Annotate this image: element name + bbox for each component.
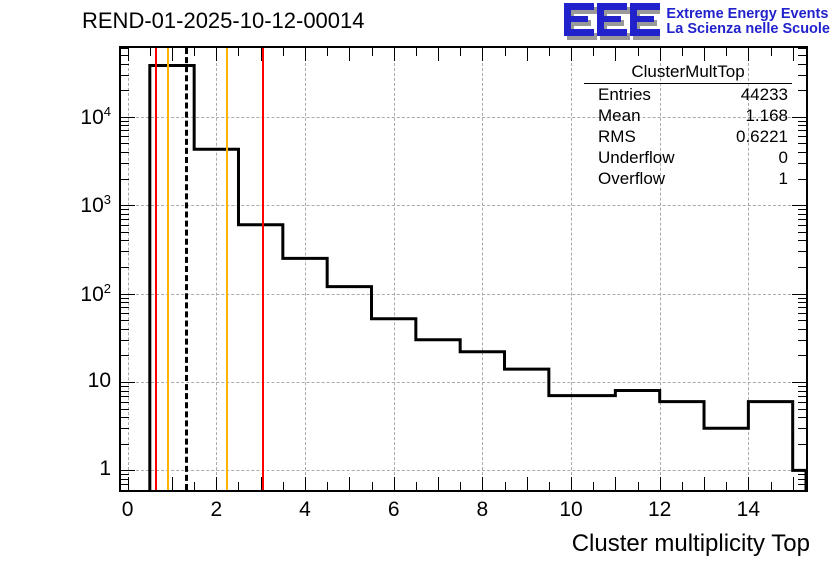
y-axis-tick: [798, 225, 806, 226]
y-axis-tick: [121, 355, 129, 356]
x-axis-tick: [216, 48, 217, 61]
y-axis-tick: [121, 313, 129, 314]
y-axis-tick: [121, 302, 129, 303]
y-axis-tick: [798, 179, 806, 180]
x-axis-tick: [172, 48, 173, 61]
y-axis-tick: [792, 294, 806, 295]
y-axis-tick: [798, 232, 806, 233]
x-axis-tick: [394, 48, 395, 61]
y-axis-tick-label: 1: [99, 457, 111, 481]
x-axis-tick: [615, 48, 616, 61]
y-axis-tick: [121, 428, 129, 429]
y-axis-tick: [121, 152, 129, 153]
y-axis-tick: [121, 320, 129, 321]
stats-key: Overflow: [584, 169, 665, 189]
x-axis-tick: [726, 482, 727, 490]
y-axis-tick: [121, 179, 129, 180]
y-axis-tick: [792, 205, 806, 206]
y-axis-tick: [798, 219, 806, 220]
y-axis-tick: [121, 232, 129, 233]
x-axis-tick: [438, 48, 439, 61]
x-axis-tick-label: 4: [299, 498, 311, 522]
y-axis-tick: [121, 307, 129, 308]
eee-logo-glyph-icon: [564, 3, 660, 41]
x-axis-tick: [704, 477, 705, 490]
y-axis-tick: [121, 382, 135, 383]
y-axis-tick: [121, 64, 129, 65]
y-axis-tick: [121, 329, 129, 330]
x-axis-tick: [571, 48, 572, 61]
y-axis-tick: [121, 130, 129, 131]
x-axis-tick: [660, 477, 661, 490]
y-axis-tick: [798, 340, 806, 341]
y-axis-tick: [121, 402, 129, 403]
x-axis-tick: [372, 482, 373, 490]
x-axis-tick: [372, 48, 373, 56]
y-axis-tick: [798, 391, 806, 392]
marker-line-red-high: [262, 48, 264, 490]
x-axis-tick: [438, 477, 439, 490]
marker-line-black-mean: [185, 48, 188, 490]
y-axis-tick: [798, 417, 806, 418]
eee-logo-text: Extreme Energy Events La Scienza nelle S…: [666, 7, 830, 37]
stats-row: RMS0.6221: [584, 126, 792, 147]
x-axis-tick: [527, 48, 528, 61]
y-axis-tick: [121, 136, 129, 137]
stats-key: Underflow: [584, 148, 675, 168]
y-axis-tick: [798, 484, 806, 485]
stats-key: Entries: [584, 85, 651, 105]
eee-logo-line1: Extreme Energy Events: [666, 7, 830, 22]
y-axis-tick: [121, 125, 129, 126]
y-axis-tick: [121, 417, 129, 418]
x-axis-tick: [793, 477, 794, 490]
y-axis-tick: [121, 163, 129, 164]
y-axis-tick: [121, 121, 129, 122]
y-axis-tick: [798, 55, 806, 56]
y-axis-tick: [121, 214, 129, 215]
y-axis-tick: [121, 444, 129, 445]
y-axis-tick: [121, 294, 135, 295]
x-axis-tick-label: 10: [559, 498, 582, 522]
y-axis-tick-label: 10: [88, 369, 111, 393]
root-canvas: REND-01-2025-10-12-00014 Extreme Energy …: [0, 0, 836, 572]
y-axis-tick: [121, 386, 129, 387]
stats-value: 44233: [741, 85, 792, 105]
y-axis-tick: [121, 75, 129, 76]
x-axis-tick: [238, 482, 239, 490]
x-axis-tick: [416, 482, 417, 490]
x-axis-tick: [527, 477, 528, 490]
y-axis-tick: [121, 219, 129, 220]
x-axis-tick: [150, 482, 151, 490]
y-axis-tick: [121, 55, 129, 56]
y-axis-tick: [798, 474, 806, 475]
x-axis-tick: [682, 48, 683, 56]
x-axis-tick: [593, 482, 594, 490]
x-axis-tick: [172, 477, 173, 490]
y-axis-tick: [121, 240, 129, 241]
x-axis-tick: [238, 48, 239, 56]
y-axis-tick: [792, 117, 806, 118]
y-axis-tick: [121, 298, 129, 299]
stats-title: ClusterMultTop: [584, 62, 792, 84]
page-title: REND-01-2025-10-12-00014: [82, 8, 365, 34]
y-axis-tick: [798, 125, 806, 126]
y-axis-tick: [798, 396, 806, 397]
x-axis-tick: [416, 48, 417, 56]
y-axis-tick: [798, 479, 806, 480]
stats-row: Entries44233: [584, 84, 792, 105]
y-axis-tick: [798, 143, 806, 144]
y-axis-tick: [798, 240, 806, 241]
x-axis-tick: [793, 48, 794, 61]
y-axis-tick: [798, 214, 806, 215]
x-axis-tick: [704, 48, 705, 61]
x-axis-tick: [460, 482, 461, 490]
stats-value: 1.168: [745, 106, 792, 126]
x-axis-tick-label: 0: [122, 498, 134, 522]
y-axis-tick: [798, 307, 806, 308]
eee-logo-line2: La Scienza nelle Scuole: [666, 22, 830, 37]
y-axis-tick-label: 102: [80, 281, 111, 307]
y-axis-tick: [798, 48, 806, 49]
marker-line-orange-low: [167, 48, 169, 490]
y-axis-tick: [121, 474, 129, 475]
y-axis-tick: [121, 391, 129, 392]
stats-row: Underflow0: [584, 147, 792, 168]
y-axis-tick: [798, 251, 806, 252]
x-axis-tick: [482, 477, 483, 490]
y-axis-tick: [121, 409, 129, 410]
x-axis-tick: [349, 477, 350, 490]
x-axis-tick: [327, 482, 328, 490]
y-axis-tick: [798, 302, 806, 303]
x-axis-tick: [726, 48, 727, 56]
y-axis-tick: [798, 152, 806, 153]
x-axis-tick-label: 12: [648, 498, 671, 522]
x-axis-tick-label: 14: [737, 498, 760, 522]
y-axis-tick: [121, 267, 129, 268]
y-axis-tick: [798, 313, 806, 314]
y-axis-tick: [121, 117, 135, 118]
x-axis-tick: [682, 482, 683, 490]
y-axis-tick: [798, 130, 806, 131]
x-axis-tick: [194, 482, 195, 490]
y-axis-tick: [121, 225, 129, 226]
y-axis-tick: [121, 90, 129, 91]
x-axis-tick-label: 8: [476, 498, 488, 522]
x-axis-tick: [505, 482, 506, 490]
y-axis-tick: [798, 402, 806, 403]
x-axis-tick: [571, 477, 572, 490]
y-axis-tick: [121, 209, 129, 210]
x-axis-tick: [216, 477, 217, 490]
x-axis-tick: [305, 477, 306, 490]
y-axis-tick: [121, 205, 135, 206]
x-axis-tick: [305, 48, 306, 61]
y-axis-tick: [798, 163, 806, 164]
x-axis-tick: [549, 48, 550, 56]
y-axis-tick: [121, 484, 129, 485]
x-axis-tick-label: 2: [210, 498, 222, 522]
stats-row: Mean1.168: [584, 105, 792, 126]
marker-line-red-low: [155, 48, 157, 490]
x-axis-tick: [261, 48, 262, 61]
x-axis-tick: [460, 48, 461, 56]
y-axis-tick: [798, 121, 806, 122]
marker-line-orange-high: [226, 48, 228, 490]
x-axis-tick: [593, 48, 594, 56]
y-axis-tick: [798, 409, 806, 410]
stats-value: 0.6221: [736, 127, 792, 147]
x-axis-tick: [748, 48, 749, 61]
x-axis-tick: [283, 482, 284, 490]
stats-value: 1: [779, 169, 792, 189]
y-axis-tick: [798, 267, 806, 268]
x-axis-tick: [194, 48, 195, 56]
y-axis-tick: [121, 396, 129, 397]
y-axis-tick: [798, 386, 806, 387]
stats-value: 0: [779, 148, 792, 168]
x-axis-tick: [261, 477, 262, 490]
stats-row: Overflow1: [584, 168, 792, 189]
y-axis-tick-label: 103: [80, 192, 111, 218]
y-axis-tick: [798, 209, 806, 210]
x-axis-tick: [748, 477, 749, 490]
x-axis-title: Cluster multiplicity Top: [572, 530, 810, 558]
x-axis-tick: [505, 48, 506, 56]
stats-key: Mean: [584, 106, 641, 126]
y-axis-tick: [121, 251, 129, 252]
x-axis-tick: [638, 48, 639, 56]
y-axis-tick: [798, 298, 806, 299]
x-axis-tick: [771, 48, 772, 56]
y-axis-tick: [798, 90, 806, 91]
y-axis-tick: [798, 64, 806, 65]
x-axis-tick: [283, 48, 284, 56]
x-axis-tick: [638, 482, 639, 490]
y-axis-tick: [121, 470, 135, 471]
y-axis-tick: [798, 75, 806, 76]
x-axis-tick-label: 6: [388, 498, 400, 522]
x-axis-tick: [482, 48, 483, 61]
eee-logo: Extreme Energy Events La Scienza nelle S…: [564, 2, 830, 42]
y-axis-tick: [792, 382, 806, 383]
y-axis-tick: [792, 470, 806, 471]
y-axis-tick: [798, 136, 806, 137]
y-axis-tick: [121, 340, 129, 341]
x-axis-tick: [771, 482, 772, 490]
eee-logo-mark: [564, 3, 660, 41]
y-axis-tick: [121, 143, 129, 144]
y-axis-tick: [798, 355, 806, 356]
y-axis-tick: [798, 428, 806, 429]
x-axis-tick: [150, 48, 151, 56]
x-axis-tick: [660, 48, 661, 61]
y-axis-tick-label: 104: [80, 104, 111, 130]
x-axis-tick: [549, 482, 550, 490]
y-axis-tick: [798, 320, 806, 321]
y-axis-tick: [798, 329, 806, 330]
x-axis-tick: [394, 477, 395, 490]
stats-key: RMS: [584, 127, 636, 147]
y-axis-tick: [121, 48, 129, 49]
y-axis-tick: [798, 444, 806, 445]
y-axis-tick: [121, 479, 129, 480]
x-axis-tick: [349, 48, 350, 61]
x-axis-tick: [327, 48, 328, 56]
stats-box: ClusterMultTop Entries44233 Mean1.168 RM…: [584, 62, 792, 189]
x-axis-tick: [615, 477, 616, 490]
